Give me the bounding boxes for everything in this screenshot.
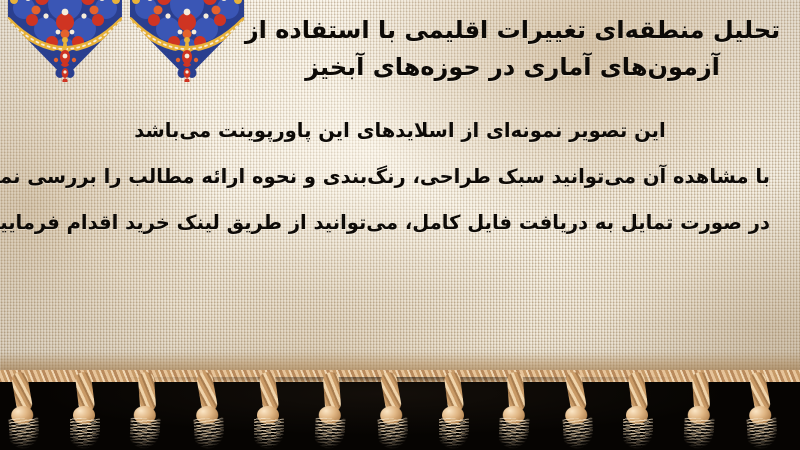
tassel-fringe-band xyxy=(0,370,800,450)
tassel-skirt xyxy=(378,417,410,450)
slide-title-line-2: آماری در حوزه‌های آبخیز xyxy=(305,53,591,81)
carpet-medallion-right xyxy=(128,0,246,82)
tassel-skirt xyxy=(8,417,40,450)
slide-body: این تصویر نمونه‌ای از اسلایدهای این پاور… xyxy=(30,108,770,245)
tassel-skirt xyxy=(747,417,779,450)
tassel-skirt xyxy=(562,417,594,450)
tassel-skirt xyxy=(254,418,284,450)
tassel xyxy=(681,371,719,450)
tassel xyxy=(127,371,165,450)
tassel-skirt xyxy=(498,417,530,450)
slide-body-line-2: با مشاهده آن می‌توانید سبک طراحی، رنگ‌بن… xyxy=(30,154,770,200)
tassel-skirt xyxy=(623,418,653,450)
tassel xyxy=(252,372,286,450)
tassel-skirt xyxy=(193,417,225,450)
tassel xyxy=(189,371,227,450)
tassel xyxy=(621,372,655,450)
tassel xyxy=(558,371,596,450)
tassel xyxy=(742,371,780,450)
tassel xyxy=(437,372,471,450)
slide-body-line-3: در صورت تمایل به دریافت فایل کامل، می‌تو… xyxy=(30,200,770,246)
slide-canvas: تحلیل منطقه‌ای تغییرات اقلیمی با استفاده… xyxy=(0,0,800,450)
tassel-skirt xyxy=(439,418,469,450)
tassel xyxy=(4,371,42,450)
tassel xyxy=(312,371,350,450)
slide-title: تحلیل منطقه‌ای تغییرات اقلیمی با استفاده… xyxy=(240,12,785,86)
slide-body-line-1: این تصویر نمونه‌ای از اسلایدهای این پاور… xyxy=(30,108,770,154)
tassel xyxy=(373,371,411,450)
tassel xyxy=(68,372,102,450)
tassel-skirt xyxy=(314,417,346,450)
tassel-skirt xyxy=(129,417,161,450)
tassel-skirt xyxy=(683,417,715,450)
carpet-medallion-left xyxy=(6,0,124,82)
tassel-skirt xyxy=(70,418,100,450)
tassel xyxy=(496,371,534,450)
